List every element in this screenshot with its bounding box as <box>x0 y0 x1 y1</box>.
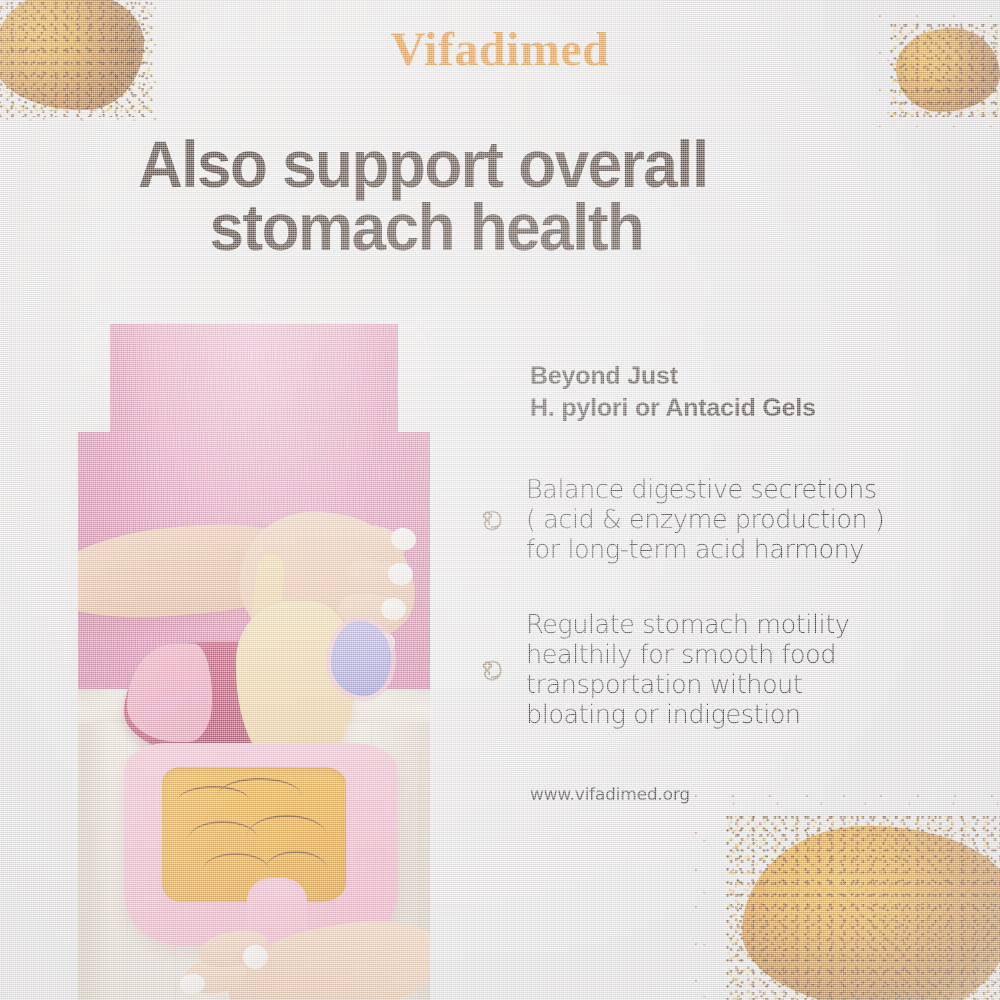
powder-blob <box>742 826 1000 1000</box>
subheading: Beyond Just H. pylori or Antacid Gels <box>530 360 974 424</box>
intestine-fold <box>217 778 301 815</box>
photo-organ-small-intestine <box>162 767 345 902</box>
benefit-2-line-2: healthily for smooth food <box>526 641 849 671</box>
product-photo <box>78 324 430 1000</box>
benefit-2-line-3: transportation without <box>526 671 849 701</box>
benefit-text-2: Regulate stomach motility healthily for … <box>526 611 849 730</box>
page-title: Also support overall stomach health <box>138 133 852 258</box>
stomach-plus-icon <box>472 651 512 691</box>
benefit-1-line-2: ( acid & enzyme production ) <box>526 506 884 536</box>
benefit-2-line-4: bloating or indigestion <box>526 701 849 731</box>
headline-line-2: stomach health <box>209 196 852 259</box>
subheading-line-1: Beyond Just <box>530 360 974 392</box>
benefit-text-1: Balance digestive secretions ( acid & en… <box>526 476 884 565</box>
powder-scatter <box>693 793 1000 1000</box>
benefit-1-line-1: Balance digestive secretions <box>526 476 884 506</box>
benefit-1-line-3: for long-term acid harmony <box>526 536 884 566</box>
brand-logo: Vifadimed <box>0 26 1000 86</box>
promotional-poster: Vifadimed Also support overall stomach h… <box>0 0 1000 1000</box>
powder-grain <box>726 815 1000 1000</box>
benefit-2-line-1: Regulate stomach motility <box>526 611 849 641</box>
benefit-item-1: Balance digestive secretions ( acid & en… <box>472 476 974 565</box>
turmeric-powder-bottom-right <box>742 826 1000 1000</box>
copy-column: Beyond Just H. pylori or Antacid Gels Ba… <box>472 360 974 805</box>
website-url[interactable]: www.vifadimed.org <box>530 785 974 805</box>
stomach-plus-icon <box>472 501 512 541</box>
logo-wordmark: Vifadimed <box>389 26 612 86</box>
photo-background-right <box>398 324 430 432</box>
photo-organ-spleen <box>331 621 391 695</box>
photo-background-left <box>78 324 110 432</box>
benefit-item-2: Regulate stomach motility healthily for … <box>472 611 974 730</box>
subheading-line-2: H. pylori or Antacid Gels <box>530 392 974 424</box>
headline-line-1: Also support overall <box>138 133 852 196</box>
